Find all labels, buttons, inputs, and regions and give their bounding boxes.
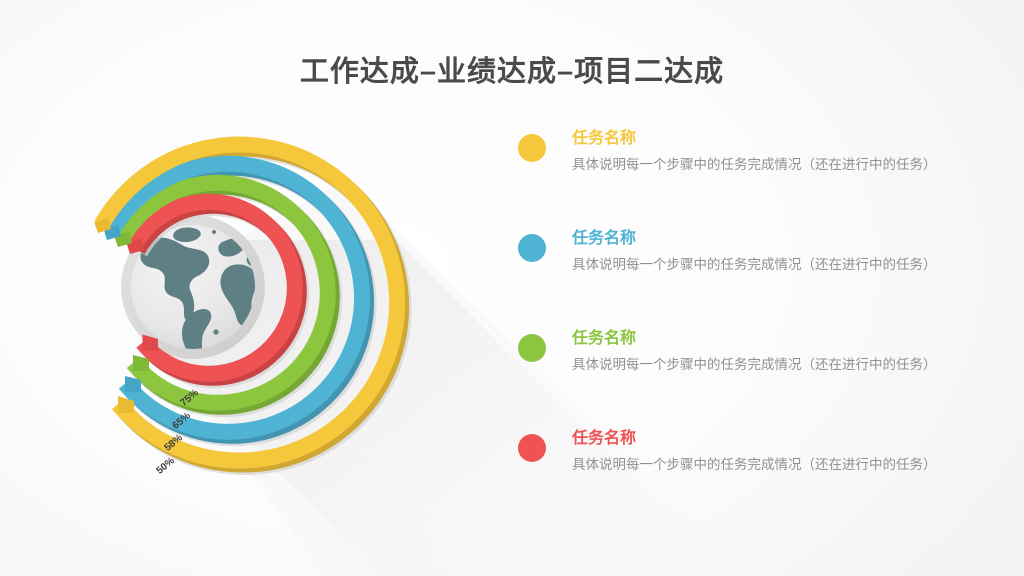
legend-dot-red: [518, 434, 546, 462]
page-title: 工作达成–业绩达成–项目二达成: [0, 48, 1024, 90]
legend-desc-2: 具体说明每一个步骤中的任务完成情况（还在进行中的任务）: [572, 254, 972, 275]
legend-text-2: 任务名称 具体说明每一个步骤中的任务完成情况（还在进行中的任务）: [572, 228, 984, 275]
legend-title-1: 任务名称: [572, 128, 984, 150]
legend-text-4: 任务名称 具体说明每一个步骤中的任务完成情况（还在进行中的任务）: [572, 428, 984, 475]
legend-item-1[interactable]: 任务名称 具体说明每一个步骤中的任务完成情况（还在进行中的任务）: [518, 128, 988, 228]
legend-item-4[interactable]: 任务名称 具体说明每一个步骤中的任务完成情况（还在进行中的任务）: [518, 428, 988, 528]
legend-text-3: 任务名称 具体说明每一个步骤中的任务完成情况（还在进行中的任务）: [572, 328, 984, 375]
legend-desc-1: 具体说明每一个步骤中的任务完成情况（还在进行中的任务）: [572, 154, 972, 175]
legend-item-3[interactable]: 任务名称 具体说明每一个步骤中的任务完成情况（还在进行中的任务）: [518, 328, 988, 428]
legend-dot-yellow: [518, 134, 546, 162]
radial-progress-chart: 75% 65% 58% 50%: [96, 120, 456, 520]
legend-desc-3: 具体说明每一个步骤中的任务完成情况（还在进行中的任务）: [572, 354, 972, 375]
legend-dot-blue: [518, 234, 546, 262]
legend-title-3: 任务名称: [572, 328, 984, 350]
legend-title-4: 任务名称: [572, 428, 984, 450]
legend-item-2[interactable]: 任务名称 具体说明每一个步骤中的任务完成情况（还在进行中的任务）: [518, 228, 988, 328]
legend-dot-green: [518, 334, 546, 362]
legend-list: 任务名称 具体说明每一个步骤中的任务完成情况（还在进行中的任务） 任务名称 具体…: [518, 128, 988, 528]
rings-svg: [96, 120, 456, 520]
legend-text-1: 任务名称 具体说明每一个步骤中的任务完成情况（还在进行中的任务）: [572, 128, 984, 175]
slide-canvas: 工作达成–业绩达成–项目二达成: [0, 0, 1024, 576]
legend-title-2: 任务名称: [572, 228, 984, 250]
legend-desc-4: 具体说明每一个步骤中的任务完成情况（还在进行中的任务）: [572, 454, 972, 475]
